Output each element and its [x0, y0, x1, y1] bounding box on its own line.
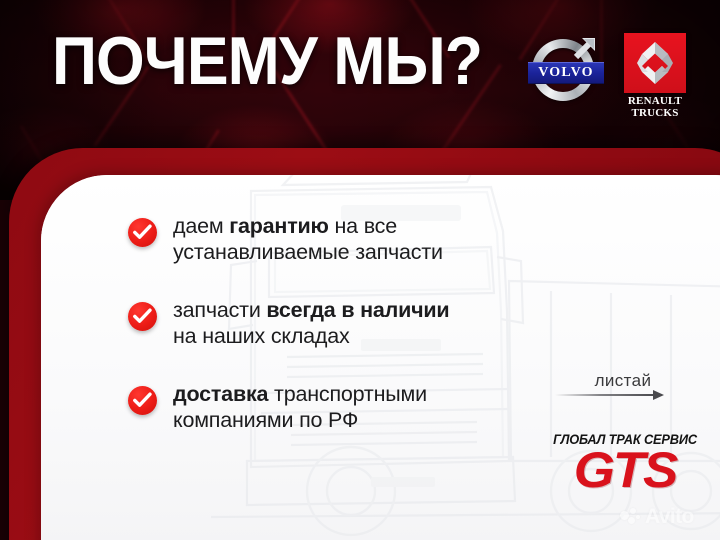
volvo-wordmark-band: VOLVO — [528, 62, 604, 84]
check-circle-icon — [128, 386, 157, 415]
avito-watermark: Avito — [620, 505, 694, 529]
promo-slide: ПОЧЕМУ МЫ? VOLVO — [0, 0, 720, 540]
volvo-mars-arrow-icon — [570, 35, 598, 63]
list-item: даем гарантию на все устанавливаемые зап… — [128, 213, 598, 265]
gts-wordmark: GTS — [532, 447, 719, 494]
bullet-1-l1p2: гарантию — [229, 214, 329, 238]
checkmark-glyph-icon — [133, 224, 152, 241]
list-item-text: даем гарантию на все устанавливаемые зап… — [173, 213, 443, 265]
arrow-head — [653, 390, 664, 400]
bullet-2-l1p2: всегда в наличии — [266, 298, 449, 322]
gts-logo: ГЛОБАЛ ТРАК СЕРВИС GTS — [537, 432, 713, 494]
volvo-logo: VOLVO — [528, 33, 604, 109]
bullet-1-l1p3: на все — [329, 214, 397, 238]
swipe-hint: листай — [579, 371, 667, 401]
renault-wordmark-line2: TRUCKS — [624, 108, 686, 120]
checkmark-glyph-icon — [133, 392, 152, 409]
renault-wordmark-line1: RENAULT — [624, 96, 686, 108]
bullet-3-l1p1: доставка — [173, 382, 268, 406]
renault-square — [624, 33, 686, 93]
list-item-text: запчасти всегда в наличии на наших склад… — [173, 297, 449, 349]
page-title: ПОЧЕМУ МЫ? — [52, 27, 482, 95]
bullet-2-l2: на наших складах — [173, 324, 350, 348]
renault-wordmark: RENAULT TRUCKS — [624, 96, 686, 119]
list-item: запчасти всегда в наличии на наших склад… — [128, 297, 598, 349]
checkmark-glyph-icon — [133, 308, 152, 325]
swipe-hint-label: листай — [579, 371, 667, 391]
brand-logos: VOLVO RENAULT TRUCKS — [528, 33, 686, 119]
volvo-wordmark: VOLVO — [538, 65, 594, 81]
bullet-3-l2: компаниями по РФ — [173, 408, 358, 432]
arrow-right-icon — [555, 389, 667, 401]
benefits-list: даем гарантию на все устанавливаемые зап… — [128, 213, 598, 465]
list-item: доставка транспортными компаниями по РФ — [128, 381, 598, 433]
check-circle-icon — [128, 302, 157, 331]
bullet-3-l1p2: транспортными — [268, 382, 427, 406]
arrow-shaft — [555, 394, 655, 396]
check-circle-icon — [128, 218, 157, 247]
avito-dots-icon — [620, 508, 640, 526]
bullet-2-l1p1: запчасти — [173, 298, 266, 322]
bullet-1-l1p1: даем — [173, 214, 229, 238]
list-item-text: доставка транспортными компаниями по РФ — [173, 381, 427, 433]
renault-trucks-logo: RENAULT TRUCKS — [624, 33, 686, 119]
avito-wordmark: Avito — [645, 505, 694, 529]
bullet-1-l2: устанавливаемые запчасти — [173, 240, 443, 264]
renault-diamond-icon — [635, 40, 675, 86]
